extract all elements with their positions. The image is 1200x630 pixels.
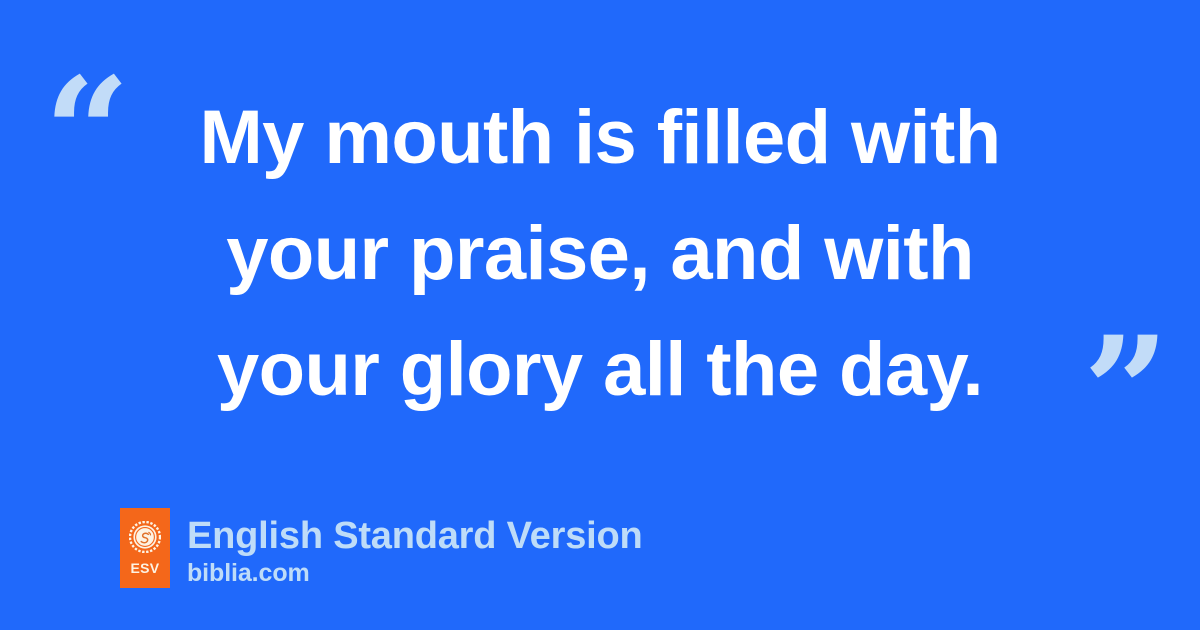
attribution-text: English Standard Version biblia.com xyxy=(187,508,643,588)
quote-block: “ My mouth is filled with your praise, a… xyxy=(0,34,1200,424)
esv-logo-label: ESV xyxy=(120,560,170,576)
verse-card: “ My mouth is filled with your praise, a… xyxy=(0,0,1200,630)
quote-line: your glory all the day. xyxy=(0,312,1200,428)
attribution: ESV English Standard Version biblia.com xyxy=(120,508,643,588)
quote-line: My mouth is filled with xyxy=(0,80,1200,196)
close-quote-icon: ” xyxy=(1083,317,1169,467)
quote-line: your praise, and with xyxy=(0,196,1200,312)
bible-version-name: English Standard Version xyxy=(187,514,643,558)
esv-logo: ESV xyxy=(120,508,170,588)
esv-seal-icon xyxy=(129,521,161,553)
site-name: biblia.com xyxy=(187,558,643,588)
